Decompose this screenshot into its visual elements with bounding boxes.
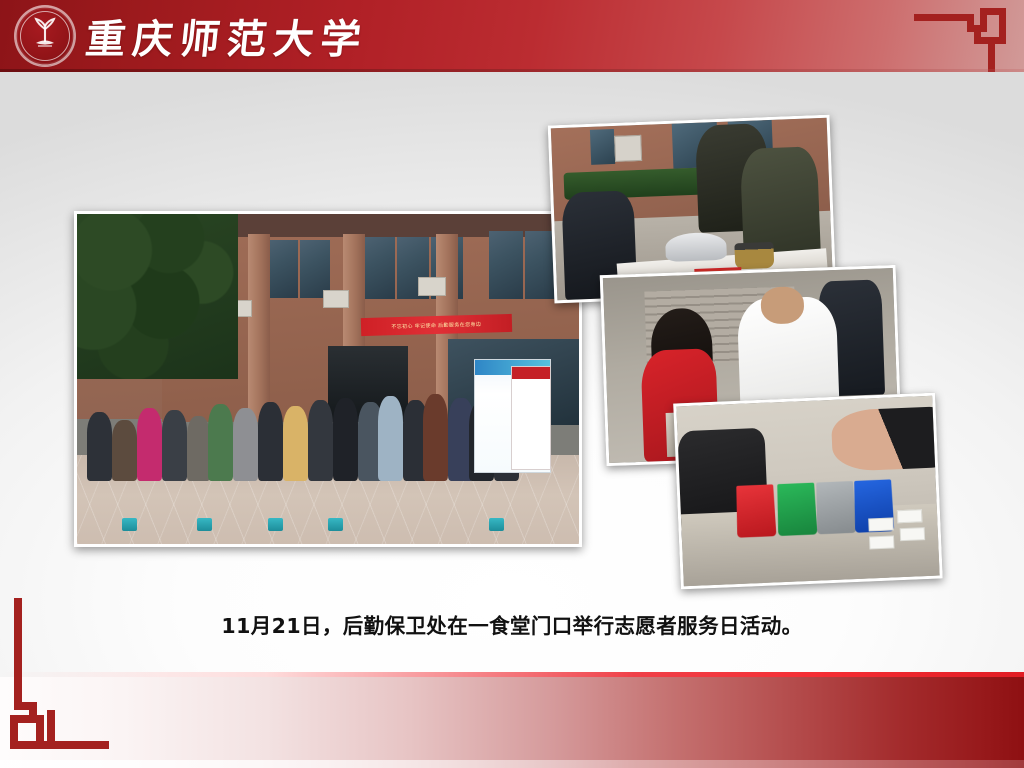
photo-stool xyxy=(328,518,343,531)
footer-gradient-band xyxy=(0,677,1024,768)
photo-info-board-right xyxy=(511,366,551,470)
photo-doctor-head xyxy=(760,286,805,324)
photo-stool xyxy=(122,518,137,531)
photo-sorting-card xyxy=(897,509,923,523)
photo-window xyxy=(590,129,616,164)
photo-info-board-heading xyxy=(512,367,550,379)
bin-kitchen-waste xyxy=(778,483,819,537)
photo-window-row xyxy=(268,240,330,298)
photo-stool xyxy=(268,518,283,531)
university-emblem-icon xyxy=(14,5,76,67)
photo-scene xyxy=(676,396,939,587)
photo-window-row xyxy=(489,231,559,299)
bin-other-waste xyxy=(816,481,857,535)
photo-ac-unit xyxy=(323,290,349,308)
photo-stool xyxy=(489,518,504,531)
photo-sorting-card xyxy=(869,518,895,532)
photo-ac-unit xyxy=(615,135,643,162)
photo-tree-foliage xyxy=(74,211,238,379)
photo-sorting-card xyxy=(900,527,926,541)
slide-canvas: 重庆师范大学 xyxy=(0,0,1024,768)
photo-reaching-hand xyxy=(830,406,940,472)
photo-waste-sorting xyxy=(673,393,943,590)
photo-stool xyxy=(197,518,212,531)
slide-caption: 11月21日，后勤保卫处在一食堂门口举行志愿者服务日活动。 xyxy=(0,603,1024,645)
photo-main-plaza-event: 不忘初心 牢记使命 后勤服务在您身边 xyxy=(74,211,582,547)
university-name-title: 重庆师范大学 xyxy=(82,2,371,70)
photo-scene: 不忘初心 牢记使命 后勤服务在您身边 xyxy=(77,214,579,544)
photo-rice-cooker xyxy=(665,232,727,262)
photo-ac-unit xyxy=(418,277,446,296)
slide-header: 重庆师范大学 xyxy=(0,0,1024,72)
photo-sorting-card xyxy=(869,536,895,550)
bin-hazardous-waste xyxy=(737,484,778,538)
meander-corner-bottom-left-icon xyxy=(10,598,140,758)
meander-corner-top-right-icon xyxy=(914,8,1010,72)
photo-pot xyxy=(735,242,775,269)
